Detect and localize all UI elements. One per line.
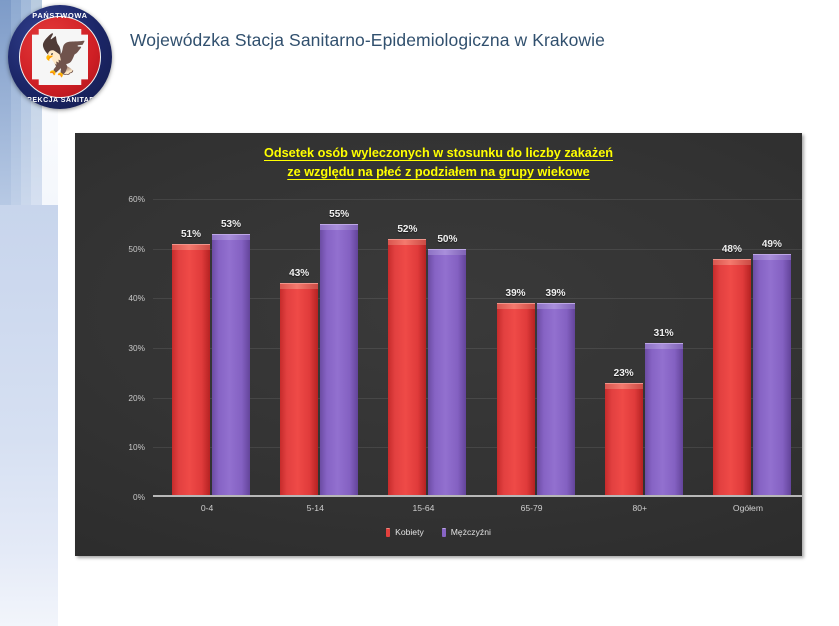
bar-65-79-Kobiety[interactable]: 39% [497,303,535,497]
bar-65-79-Mężczyźni[interactable]: 39% [537,303,575,497]
bar-15-64-Kobiety[interactable]: 52% [388,239,426,497]
bar-body [537,308,575,497]
bar-value-label: 48% [722,244,742,255]
bar-15-64-Mężczyźni[interactable]: 50% [428,249,466,497]
bar-value-label: 23% [614,368,634,379]
bar-value-label: 52% [397,224,417,235]
x-axis-line [153,495,802,497]
bar-value-label: 39% [506,288,526,299]
bar-body [645,348,683,497]
legend-label: Mężczyźni [451,527,491,537]
bar-cap [320,224,358,230]
bar-cap [497,303,535,309]
bar-value-label: 53% [221,219,241,230]
y-axis-tick-label: 50% [128,244,145,254]
y-axis-tick-label: 40% [128,293,145,303]
bar-Ogółem-Mężczyźni[interactable]: 49% [753,254,791,497]
bar-cap [537,303,575,309]
bar-0-4-Kobiety[interactable]: 51% [172,244,210,497]
chart-title: Odsetek osób wyleczonych w stosunku do l… [75,144,802,182]
bar-body [605,388,643,497]
x-axis-tick-label: 80+ [586,503,694,513]
legend-swatch-icon [386,528,390,537]
bar-cap [388,239,426,245]
legend-swatch-icon [442,528,446,537]
bar-body [713,264,751,497]
bar-body [388,244,426,497]
bar-group: 39%39% [478,199,586,497]
logo-text-bottom: INSPEKCJA SANITARNA [8,97,112,104]
y-axis: 0%10%20%30%40%50%60% [113,199,149,497]
bar-value-label: 39% [546,288,566,299]
bar-cap [645,343,683,349]
y-axis-tick-label: 30% [128,343,145,353]
bar-body [428,254,466,497]
y-axis-tick-label: 10% [128,442,145,452]
bar-value-label: 51% [181,229,201,240]
sanitary-inspection-logo: 🦅 PAŃSTWOWA INSPEKCJA SANITARNA [8,5,112,109]
chart-legend: KobietyMężczyźni [75,527,802,537]
bar-80+-Kobiety[interactable]: 23% [605,383,643,497]
plot: 0%10%20%30%40%50%60% 51%53%43%55%52%50%3… [113,199,802,497]
plot-area: 51%53%43%55%52%50%39%39%23%31%48%49% [153,199,802,497]
y-axis-tick-label: 0% [133,492,145,502]
bar-group: 51%53% [153,199,261,497]
bar-body [320,229,358,497]
chart-panel: Odsetek osób wyleczonych w stosunku do l… [75,133,802,556]
x-axis-tick-label: 5-14 [261,503,369,513]
page-title: Wojewódzka Stacja Sanitarno-Epidemiologi… [130,30,605,51]
y-axis-tick-label: 20% [128,393,145,403]
bar-cap [172,244,210,250]
legend-item-Mężczyźni[interactable]: Mężczyźni [442,527,491,537]
bar-cap [605,383,643,389]
chart-title-line-2: ze względu na płeć z podziałem na grupy … [287,163,589,182]
bar-body [497,308,535,497]
bar-body [280,288,318,497]
slide: 🦅 PAŃSTWOWA INSPEKCJA SANITARNA Wojewódz… [0,0,839,626]
bar-80+-Mężczyźni[interactable]: 31% [645,343,683,497]
bar-group: 23%31% [586,199,694,497]
y-axis-tick-label: 60% [128,194,145,204]
legend-item-Kobiety[interactable]: Kobiety [386,527,424,537]
bar-0-4-Mężczyźni[interactable]: 53% [212,234,250,497]
bar-value-label: 55% [329,209,349,220]
bar-group: 52%50% [369,199,477,497]
bar-group: 48%49% [694,199,802,497]
bar-value-label: 49% [762,239,782,250]
bar-cap [280,283,318,289]
bar-body [172,249,210,497]
x-axis-tick-label: 15-64 [369,503,477,513]
bar-groups: 51%53%43%55%52%50%39%39%23%31%48%49% [153,199,802,497]
bar-Ogółem-Kobiety[interactable]: 48% [713,259,751,497]
bar-body [212,239,250,497]
x-axis-tick-label: 0-4 [153,503,261,513]
x-axis-tick-label: 65-79 [478,503,586,513]
bar-5-14-Kobiety[interactable]: 43% [280,283,318,497]
bar-body [753,259,791,497]
x-axis-tick-label: Ogółem [694,503,802,513]
eagle-icon: 🦅 [39,33,81,79]
bar-cap [428,249,466,255]
bar-value-label: 50% [437,234,457,245]
bar-cap [713,259,751,265]
bar-group: 43%55% [261,199,369,497]
bar-value-label: 43% [289,268,309,279]
bar-cap [753,254,791,260]
bar-value-label: 31% [654,328,674,339]
bar-5-14-Mężczyźni[interactable]: 55% [320,224,358,497]
x-axis-labels: 0-45-1415-6465-7980+Ogółem [153,503,802,513]
legend-label: Kobiety [395,527,424,537]
chart-title-line-1: Odsetek osób wyleczonych w stosunku do l… [264,144,613,163]
logo-text-top: PAŃSTWOWA [8,11,112,20]
bar-cap [212,234,250,240]
